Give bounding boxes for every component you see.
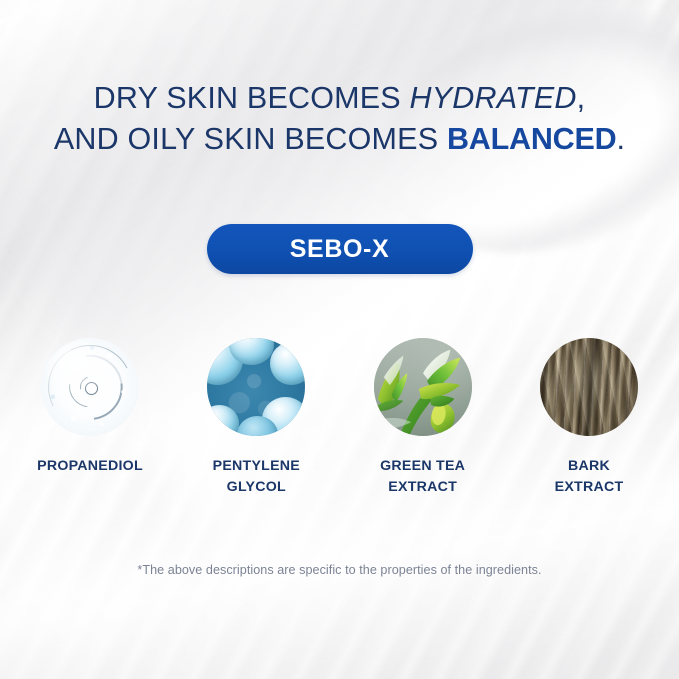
ingredient-item-green-tea-extract[interactable]: GREEN TEA EXTRACT xyxy=(347,338,499,498)
ingredient-label-green-tea-extract: GREEN TEA EXTRACT xyxy=(380,456,465,498)
headline-line-1-text-before: DRY SKIN BECOMES xyxy=(94,81,410,115)
ingredient-label-propanediol: PROPANEDIOL xyxy=(37,456,143,477)
droplet-3 xyxy=(270,342,305,385)
swirl-gloss xyxy=(41,338,139,436)
headline: DRY SKIN BECOMES HYDRATED, AND OILY SKIN… xyxy=(0,78,679,160)
badge-container: SEBO-X xyxy=(0,224,679,274)
ingredient-item-propanediol[interactable]: PROPANEDIOL xyxy=(14,338,166,498)
sebo-x-badge[interactable]: SEBO-X xyxy=(207,224,473,274)
green-tea-leaves-image xyxy=(374,338,472,436)
headline-line-1-text-after: , xyxy=(577,81,586,115)
bark-shading xyxy=(540,338,638,436)
water-swirl-gel-image xyxy=(41,338,139,436)
headline-line-1: DRY SKIN BECOMES HYDRATED, xyxy=(0,78,679,119)
ingredient-item-pentylene-glycol[interactable]: PENTYLENE GLYCOL xyxy=(180,338,332,498)
ingredient-item-bark-extract[interactable]: BARK EXTRACT xyxy=(513,338,665,498)
headline-emphasis-hydrated: HYDRATED xyxy=(410,81,577,115)
headline-emphasis-balanced: BALANCED xyxy=(447,122,617,156)
tree-bark-texture-image xyxy=(540,338,638,436)
green-tea-leaf-shapes xyxy=(374,338,472,436)
headline-line-2-text-after: . xyxy=(616,122,625,156)
ingredient-label-bark-extract: BARK EXTRACT xyxy=(555,456,624,498)
ingredient-list: PROPANEDIOL PENTYLENE GLYCOL xyxy=(14,338,665,498)
headline-line-2: AND OILY SKIN BECOMES BALANCED. xyxy=(0,119,679,160)
footnote-disclaimer: *The above descriptions are specific to … xyxy=(0,563,679,577)
promo-banner: DRY SKIN BECOMES HYDRATED, AND OILY SKIN… xyxy=(0,0,679,679)
ingredient-label-pentylene-glycol: PENTYLENE GLYCOL xyxy=(213,456,300,498)
headline-line-2-text-before: AND OILY SKIN BECOMES xyxy=(54,122,447,156)
blue-water-droplets-image xyxy=(207,338,305,436)
